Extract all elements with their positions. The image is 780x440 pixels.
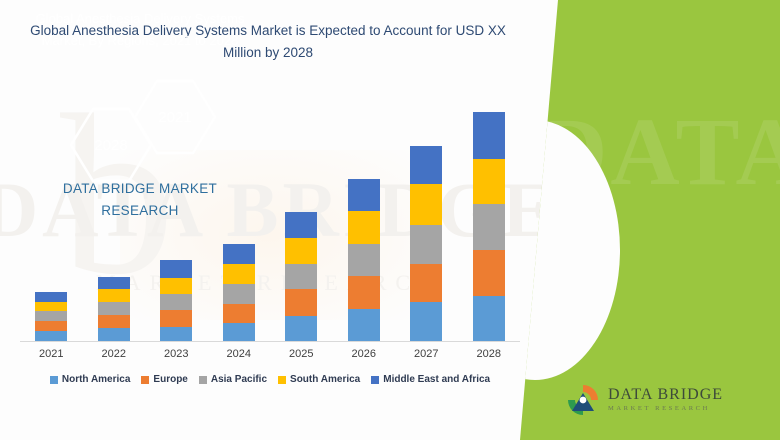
bar-segment <box>473 250 505 296</box>
bar-segment <box>98 277 130 289</box>
brand-name: DATA BRIDGE MARKET RESEARCH <box>24 178 256 222</box>
legend-item[interactable]: Europe <box>141 374 187 385</box>
bar-segment <box>473 112 505 159</box>
logo-text: DATA BRIDGE MARKET RESEARCH <box>608 387 723 413</box>
bar-segment <box>223 323 255 341</box>
x-axis-label-2023: 2023 <box>160 348 192 368</box>
bar-segment <box>348 244 380 276</box>
infographic-canvas: b DATA BRIDGE MARKET RESEARCH Global Ane… <box>0 0 780 440</box>
hexagon-2021-label: 2021 <box>158 109 191 126</box>
legend-label: Asia Pacific <box>211 374 267 385</box>
legend-swatch-icon <box>278 376 286 384</box>
bar-segment <box>98 289 130 302</box>
legend-label: Europe <box>153 374 187 385</box>
bar-segment <box>473 204 505 250</box>
bar-segment <box>35 321 67 331</box>
bar-segment <box>160 327 192 341</box>
legend-item[interactable]: North America <box>50 374 131 385</box>
x-axis-labels: 20212022202320242025202620272028 <box>20 348 520 368</box>
legend-item[interactable]: Middle East and Africa <box>371 374 490 385</box>
legend-label: North America <box>62 374 131 385</box>
bar-segment <box>410 264 442 302</box>
bar-segment <box>348 309 380 341</box>
bar-segment <box>223 244 255 264</box>
bar-2022 <box>98 277 130 341</box>
bar-segment <box>35 311 67 321</box>
x-axis-label-2022: 2022 <box>98 348 130 368</box>
bar-2025 <box>285 212 317 341</box>
chart-legend: North AmericaEuropeAsia PacificSouth Ame… <box>20 374 520 385</box>
bar-segment <box>160 260 192 278</box>
bar-segment <box>410 146 442 184</box>
logo-sub-text: MARKET RESEARCH <box>608 406 723 413</box>
bar-segment <box>160 278 192 294</box>
right-panel: DATA BRIDGE <box>520 0 780 440</box>
legend-swatch-icon <box>371 376 379 384</box>
bar-segment <box>35 331 67 341</box>
legend-swatch-icon <box>141 376 149 384</box>
bar-2028 <box>473 112 505 341</box>
x-axis-label-2028: 2028 <box>473 348 505 368</box>
bar-2021 <box>35 292 67 341</box>
bar-segment <box>410 225 442 264</box>
legend-label: Middle East and Africa <box>383 374 490 385</box>
bar-segment <box>410 302 442 341</box>
bar-segment <box>98 315 130 328</box>
bar-segment <box>285 289 317 316</box>
legend-swatch-icon <box>199 376 207 384</box>
bar-2026 <box>348 179 380 341</box>
x-axis-label-2025: 2025 <box>285 348 317 368</box>
x-axis-label-2021: 2021 <box>35 348 67 368</box>
hexagon-2028: 2028 <box>68 106 154 184</box>
x-axis-label-2026: 2026 <box>348 348 380 368</box>
panel-heading: Global Anesthesia Delivery Systems Marke… <box>24 8 256 52</box>
bar-segment <box>285 238 317 264</box>
legend-item[interactable]: South America <box>278 374 360 385</box>
bar-segment <box>223 304 255 323</box>
bar-segment <box>348 276 380 309</box>
x-axis-label-2027: 2027 <box>410 348 442 368</box>
hexagon-group: 2021 2028 <box>40 78 240 178</box>
bar-segment <box>98 328 130 341</box>
x-axis-line <box>20 341 520 342</box>
legend-swatch-icon <box>50 376 58 384</box>
bar-segment <box>348 211 380 244</box>
logo-mark-icon <box>566 383 600 417</box>
bar-segment <box>473 296 505 341</box>
legend-label: South America <box>290 374 360 385</box>
bar-segment <box>160 294 192 310</box>
bar-segment <box>285 264 317 289</box>
legend-item[interactable]: Asia Pacific <box>199 374 267 385</box>
bar-segment <box>473 159 505 204</box>
bar-segment <box>98 302 130 315</box>
bar-segment <box>160 310 192 327</box>
bar-2024 <box>223 244 255 341</box>
bar-segment <box>410 184 442 225</box>
hexagon-2028-label: 2028 <box>94 137 127 154</box>
bar-segment <box>285 212 317 238</box>
bar-segment <box>348 179 380 211</box>
bar-segment <box>285 316 317 341</box>
data-bridge-logo: DATA BRIDGE MARKET RESEARCH <box>566 378 746 422</box>
bar-segment <box>223 264 255 284</box>
bar-segment <box>223 284 255 304</box>
bar-2023 <box>160 260 192 341</box>
bar-segment <box>35 302 67 311</box>
bar-segment <box>35 292 67 302</box>
x-axis-label-2024: 2024 <box>223 348 255 368</box>
bar-2027 <box>410 146 442 341</box>
logo-main-text: DATA BRIDGE <box>608 387 723 403</box>
